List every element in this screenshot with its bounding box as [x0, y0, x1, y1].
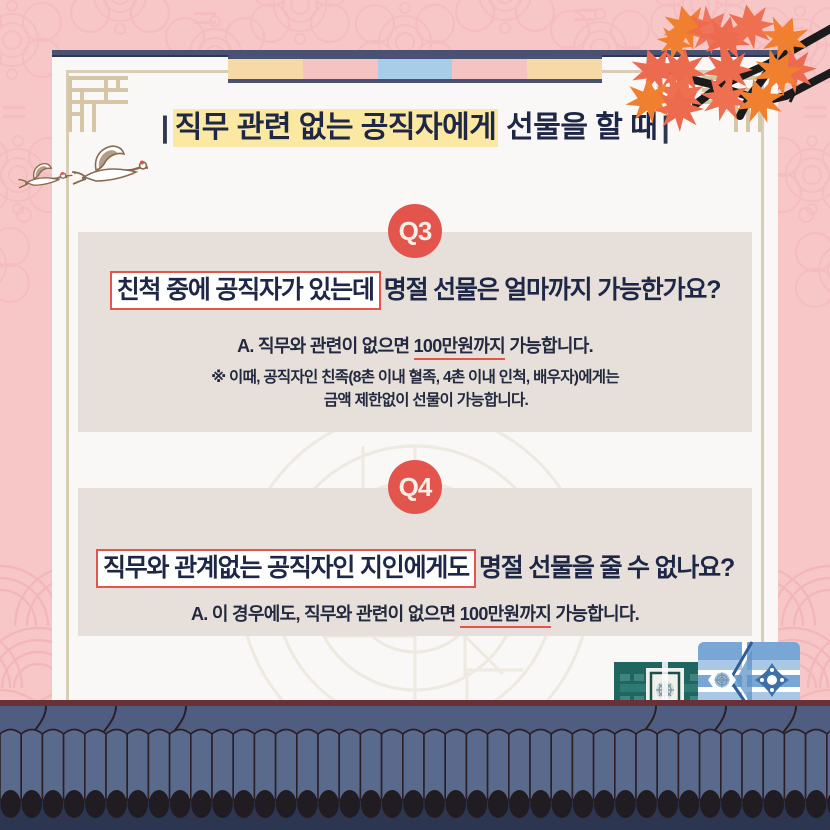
answer-q3-prefix: A. 직무와 관련이 없으면	[237, 336, 409, 356]
note-q3-line1: ※ 이때, 공직자인 친족(8촌 이내 혈족, 4촌 이내 인척, 배우자)에게…	[0, 366, 830, 389]
question-q3-rest: 명절 선물은 얼마까지 가능한가요?	[384, 276, 721, 304]
badge-q4: Q4	[388, 460, 442, 514]
badge-q3: Q3	[388, 204, 442, 258]
colorbar-seg-5	[527, 59, 602, 79]
answer-q3: A. 직무와 관련이 없으면 100만원까지 가능합니다.	[0, 332, 830, 358]
answer-q4-suffix: 가능합니다.	[555, 604, 639, 624]
note-q3-line2: 금액 제한없이 선물이 가능합니다.	[0, 389, 830, 412]
question-q3-boxed: 친척 중에 공직자가 있는데	[110, 271, 381, 310]
question-q3: 친척 중에 공직자가 있는데명절 선물은 얼마까지 가능한가요?	[0, 270, 830, 306]
colorbar-seg-4	[452, 59, 527, 79]
colorbar-seg-2	[303, 59, 378, 79]
colorbar-seg-1	[228, 59, 303, 79]
question-q4-rest: 명절 선물을 줄 수 없나요?	[479, 554, 734, 582]
answer-q3-amount: 100만원까지	[414, 336, 505, 360]
answer-q4-amount: 100만원까지	[460, 604, 551, 628]
title-highlight: 직무 관련 없는 공직자에게	[173, 109, 499, 147]
answer-q4: A. 이 경우에도, 직무와 관련이 없으면 100만원까지 가능합니다.	[0, 600, 830, 626]
question-q4-boxed: 직무와 관계없는 공직자인 지인에게도	[96, 549, 476, 588]
maple-branch-icon	[600, 0, 830, 190]
question-q4: 직무와 관계없는 공직자인 지인에게도명절 선물을 줄 수 없나요?	[0, 548, 830, 584]
infographic-stage: |직무 관련 없는 공직자에게 선물을 할 때|	[0, 0, 830, 830]
colorbar-seg-3	[378, 59, 453, 79]
korean-roof-tiles	[0, 700, 830, 830]
answer-q3-suffix: 가능합니다.	[509, 336, 593, 356]
answer-q4-prefix: A. 이 경우에도, 직무와 관련이 없으면	[191, 604, 455, 624]
decorative-colorbar	[228, 55, 602, 83]
flying-cranes-icon	[18, 138, 148, 208]
title-bar-left: |	[157, 111, 173, 144]
note-q3: ※ 이때, 공직자인 친족(8촌 이내 혈족, 4촌 이내 인척, 배우자)에게…	[0, 366, 830, 413]
